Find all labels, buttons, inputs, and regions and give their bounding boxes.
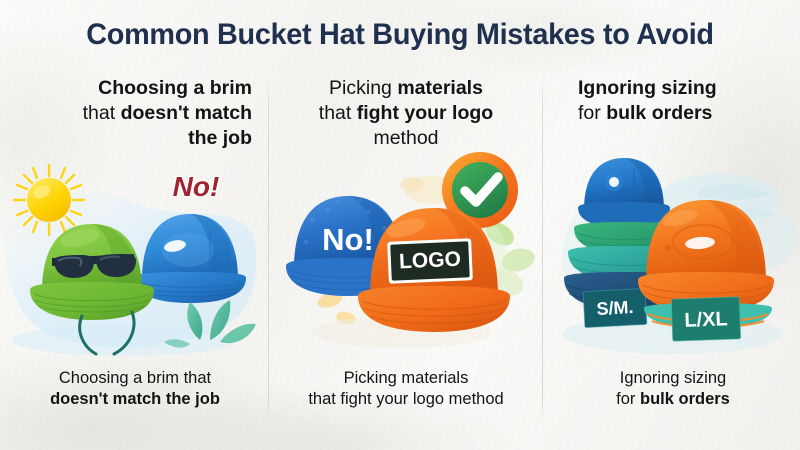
- caption-3-line2-bold: bulk orders: [640, 390, 730, 408]
- heading-2-line2-regular: that: [319, 102, 357, 124]
- heading-1-line2-regular: that: [83, 102, 121, 124]
- heading-3-line1: Ignoring sizing: [578, 77, 717, 99]
- heading-2-line1-regular: Picking: [329, 77, 397, 99]
- column-divider-2: [542, 76, 543, 426]
- heading-1-line2-bold: doesn't match: [121, 102, 252, 124]
- column-sizing-mistake: Ignoring sizing for bulk orders: [548, 76, 798, 428]
- size-tag-small-text: S/M.: [596, 297, 634, 319]
- size-tag-large-text: L/XL: [684, 308, 728, 331]
- illustration-brim-mistake: No!: [4, 162, 266, 362]
- column-3-caption: Ignoring sizing for bulk orders: [548, 368, 798, 410]
- column-2-heading: Picking materials that fight your logo m…: [272, 76, 540, 151]
- heading-2-line3: method: [373, 127, 438, 149]
- caption-1-line1: Choosing a brim that: [59, 369, 211, 387]
- column-3-heading: Ignoring sizing for bulk orders: [548, 76, 798, 126]
- caption-3-line1: Ignoring sizing: [620, 369, 726, 387]
- column-1-caption: Choosing a brim that doesn't match the j…: [4, 368, 266, 410]
- heading-3-line2-bold: bulk orders: [606, 102, 712, 124]
- hat-eyelet: [605, 173, 623, 191]
- warning-text-no: No!: [173, 171, 220, 202]
- illustration-sizing-mistake: S/M.: [548, 138, 798, 363]
- logo-patch-text: LOGO: [399, 248, 462, 274]
- sun-icon: [14, 165, 84, 235]
- heading-3-line2-regular: for: [578, 102, 606, 124]
- column-brim-mistake: Choosing a brim that doesn't match the j…: [4, 76, 266, 428]
- heading-1-line3: the job: [188, 127, 252, 149]
- page-title: Common Bucket Hat Buying Mistakes to Avo…: [16, 18, 784, 52]
- heading-2-line1-bold: materials: [397, 77, 483, 99]
- column-1-heading: Choosing a brim that doesn't match the j…: [4, 76, 266, 151]
- caption-1-line2: doesn't match the job: [50, 390, 220, 408]
- logo-patch: LOGO: [387, 238, 473, 284]
- caption-3-line2-regular: for: [616, 390, 640, 408]
- column-2-caption: Picking materials that fight your logo m…: [272, 368, 540, 410]
- caption-2-line2: that fight your logo method: [308, 390, 503, 408]
- column-materials-mistake: Picking materials that fight your logo m…: [272, 76, 540, 428]
- warning-text-no-2: No!: [322, 222, 374, 257]
- column-divider-1: [268, 76, 269, 426]
- size-tag-small: S/M.: [583, 288, 647, 327]
- heading-1-line1: Choosing a brim: [98, 77, 252, 99]
- heading-2-line2-bold: fight your logo: [357, 102, 493, 124]
- illustration-materials-mistake: No! LOGO: [272, 150, 540, 360]
- caption-2-line1: Picking materials: [344, 369, 469, 387]
- size-tag-large: L/XL: [671, 297, 740, 341]
